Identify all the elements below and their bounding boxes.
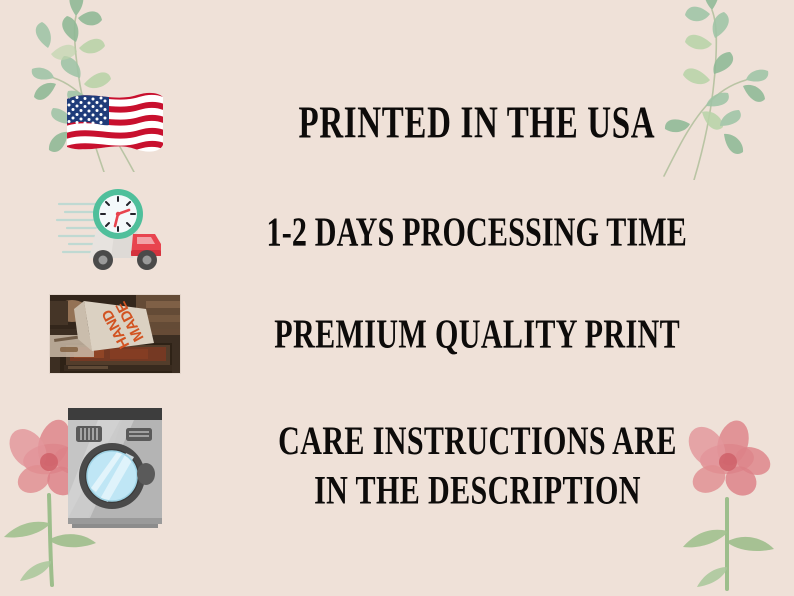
- feature-icon-cell-care-instructions: [0, 400, 230, 532]
- info-graphic-canvas: PRINTED IN THE USA: [0, 0, 794, 596]
- fast-delivery-clock-icon: [55, 186, 175, 278]
- feature-headline-care-line-2: IN THE DESCRIPTION: [278, 466, 677, 516]
- washing-machine-icon: [60, 400, 170, 532]
- feature-text-cell-print-quality: PREMIUM QUALITY PRINT: [230, 318, 794, 351]
- feature-row-print-quality: HAND MADE PREMIUM QUALITY PRINT: [0, 286, 794, 382]
- feature-row-care-instructions: CARE INSTRUCTIONS ARE IN THE DESCRIPTION: [0, 392, 794, 540]
- feature-headline-processing-time: 1-2 DAYS PROCESSING TIME: [267, 210, 688, 254]
- feature-headline-care-line-1: CARE INSTRUCTIONS ARE: [278, 417, 677, 463]
- feature-icon-cell-usa: [0, 87, 230, 161]
- feature-icon-cell-print-quality: HAND MADE: [0, 294, 230, 374]
- feature-headline-print-quality: PREMIUM QUALITY PRINT: [274, 312, 680, 356]
- feature-row-processing-time: 1-2 DAYS PROCESSING TIME: [0, 182, 794, 282]
- feature-text-cell-processing-time: 1-2 DAYS PROCESSING TIME: [230, 216, 794, 249]
- feature-headline-usa: PRINTED IN THE USA: [299, 100, 656, 148]
- feature-text-cell-care-instructions: CARE INSTRUCTIONS ARE IN THE DESCRIPTION: [230, 428, 794, 505]
- us-flag-icon: [63, 87, 167, 161]
- feature-text-cell-usa: PRINTED IN THE USA: [230, 106, 794, 142]
- screen-print-photo-icon: HAND MADE: [49, 294, 181, 374]
- feature-icon-cell-processing-time: [0, 186, 230, 278]
- feature-row-usa: PRINTED IN THE USA: [0, 72, 794, 176]
- feature-headline-care-instructions: CARE INSTRUCTIONS ARE IN THE DESCRIPTION: [278, 416, 677, 516]
